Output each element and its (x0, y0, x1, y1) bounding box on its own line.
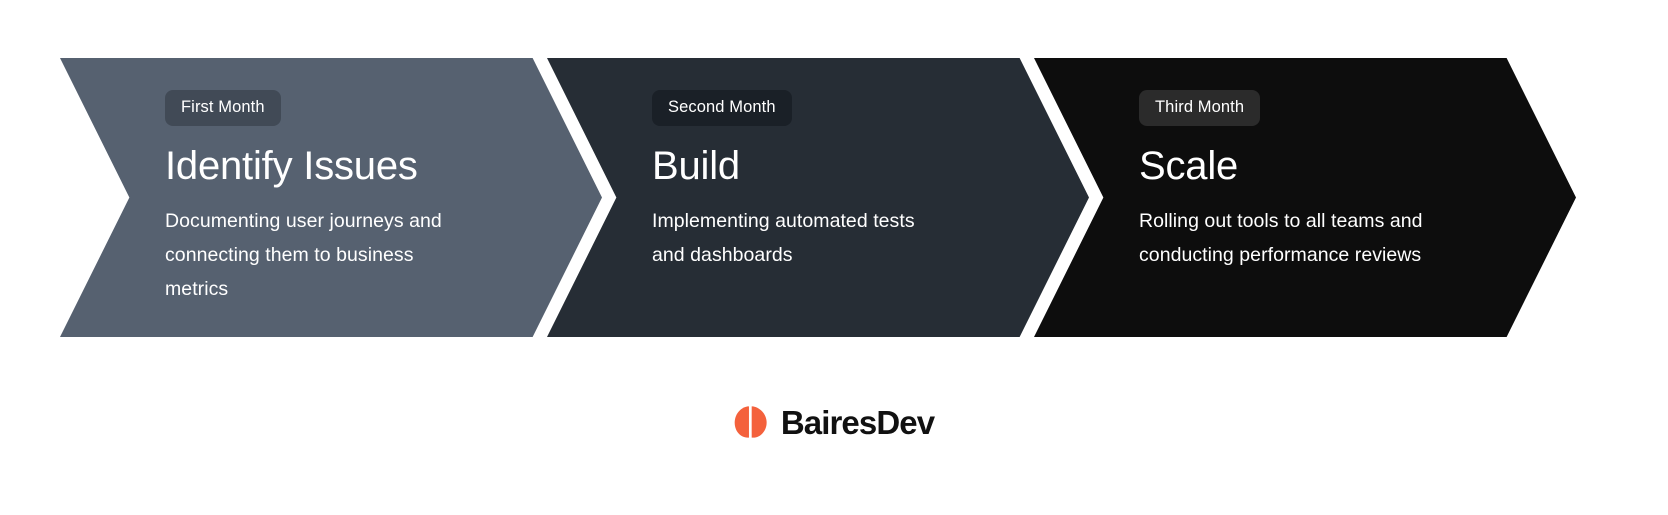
bairesdev-wordmark: BairesDev (781, 406, 934, 439)
brand-logo: BairesDev (0, 392, 1668, 452)
step-badge: Second Month (652, 90, 792, 126)
bairesdev-logo-mark-icon (734, 405, 768, 439)
step-description: Rolling out tools to all teams and condu… (1139, 204, 1429, 272)
step-badge: Third Month (1139, 90, 1260, 126)
timeline-steps: First Month Identify Issues Documenting … (0, 0, 1668, 360)
step-content: Third Month Scale Rolling out tools to a… (1034, 58, 1576, 337)
step-badge: First Month (165, 90, 281, 126)
step-content: Second Month Build Implementing automate… (547, 58, 1089, 337)
step-description: Documenting user journeys and connecting… (165, 204, 455, 306)
step-title: Scale (1139, 145, 1576, 187)
step-title: Build (652, 145, 1089, 187)
timeline-step-second-month: Second Month Build Implementing automate… (547, 58, 1089, 337)
infographic-canvas: First Month Identify Issues Documenting … (0, 0, 1668, 515)
step-description: Implementing automated tests and dashboa… (652, 204, 942, 272)
step-title: Identify Issues (165, 145, 602, 187)
timeline-step-first-month: First Month Identify Issues Documenting … (60, 58, 602, 337)
step-content: First Month Identify Issues Documenting … (60, 58, 602, 337)
timeline-step-third-month: Third Month Scale Rolling out tools to a… (1034, 58, 1576, 337)
